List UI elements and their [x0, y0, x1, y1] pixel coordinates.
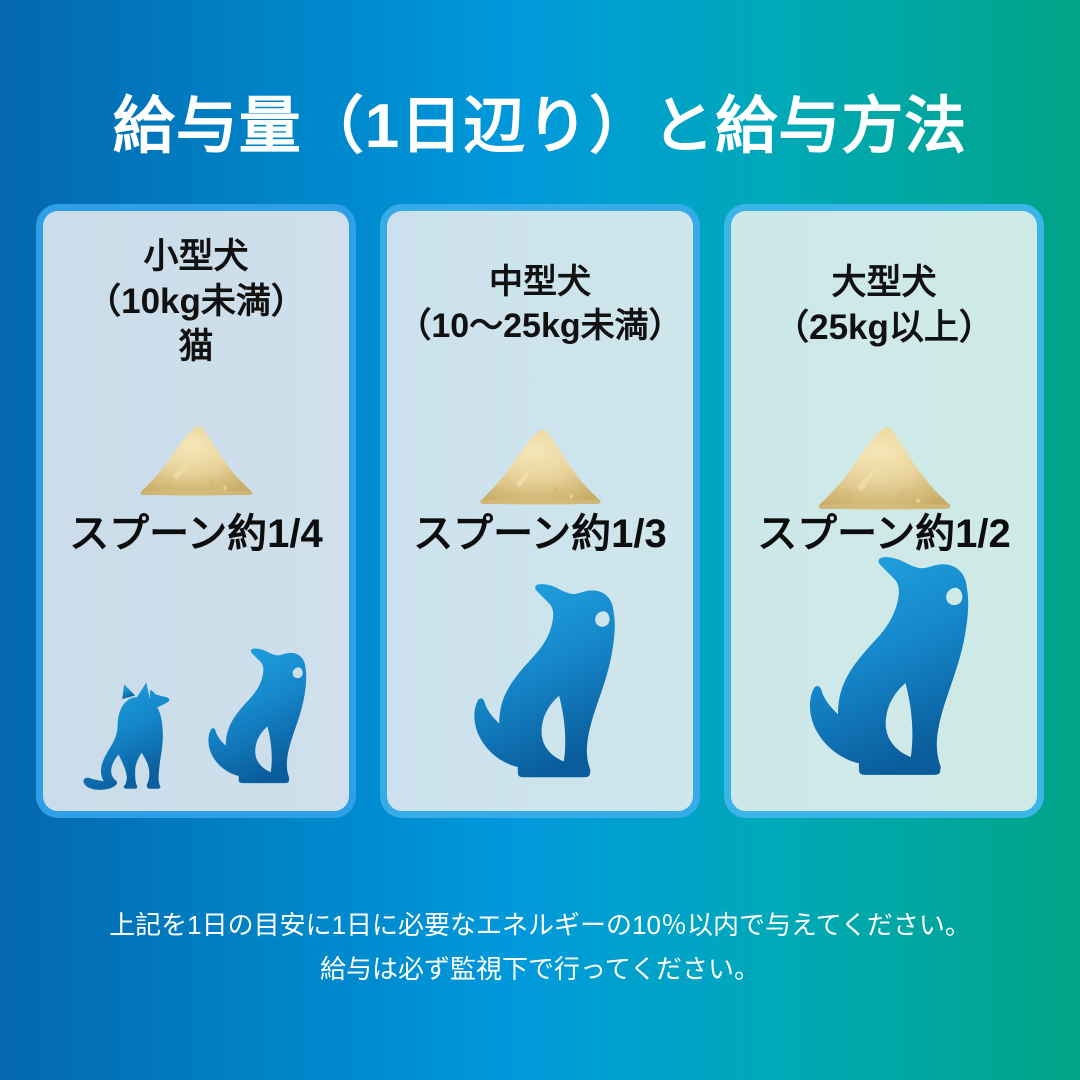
animal-silhouettes: [731, 547, 1037, 797]
page-title: 給与量（1日辺り）と給与方法: [113, 96, 967, 158]
dog-silhouette: [782, 547, 987, 797]
card-heading-line-2: （10〜25kg未満）: [387, 305, 693, 349]
card-heading: 大型犬 （25kg以上）: [731, 211, 1037, 351]
powder-pile-image: [387, 421, 693, 505]
card-heading-line-1: 小型犬: [43, 235, 349, 280]
powder-pile-image: [43, 418, 349, 496]
card-heading: 小型犬 （10kg未満） 猫: [43, 211, 349, 369]
feeding-cards-row: 小型犬 （10kg未満） 猫: [36, 204, 1044, 818]
card-heading-line-1: 大型犬: [731, 261, 1037, 306]
card-heading: 中型犬 （10〜25kg未満）: [387, 211, 693, 348]
animal-silhouettes: [387, 575, 693, 797]
animal-silhouettes: [43, 642, 349, 797]
poster-root: 給与量（1日辺り）と給与方法 小型犬 （10kg未満） 猫: [0, 0, 1080, 1080]
dog-silhouette: [458, 575, 623, 797]
cat-silhouette: [81, 677, 193, 797]
footer-note: 上記を1日の目安に1日に必要なエネルギーの10％以内で与えてください。 給与は必…: [0, 903, 1080, 992]
card-small-dog-cat[interactable]: 小型犬 （10kg未満） 猫: [36, 204, 356, 818]
card-large-dog[interactable]: 大型犬 （25kg以上）: [724, 204, 1044, 818]
amount-label: スプーン約1/4: [43, 514, 349, 554]
powder-pile-image: [731, 418, 1037, 510]
amount-label: スプーン約1/3: [387, 514, 693, 554]
card-heading-line-2: （25kg以上）: [731, 306, 1037, 351]
card-heading-line-1: 中型犬: [387, 261, 693, 305]
card-heading-line-3: 猫: [43, 325, 349, 370]
dog-silhouette: [197, 642, 312, 797]
footer-line-2: 給与は必ず監視下で行ってください。: [0, 947, 1080, 992]
footer-line-1: 上記を1日の目安に1日に必要なエネルギーの10％以内で与えてください。: [0, 903, 1080, 948]
card-medium-dog[interactable]: 中型犬 （10〜25kg未満）: [380, 204, 700, 818]
card-heading-line-2: （10kg未満）: [43, 280, 349, 325]
